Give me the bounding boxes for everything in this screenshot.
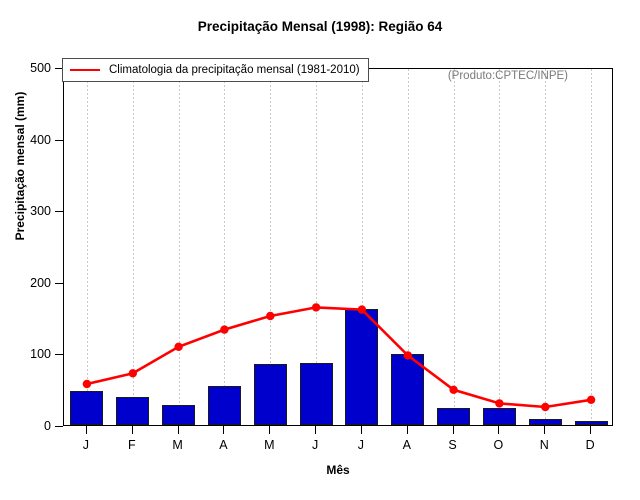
data-point-marker [541,403,549,411]
x-tick-mark [590,426,591,434]
x-tick-mark [178,426,179,434]
y-axis-label: Precipitação mensal (mm) [13,0,27,336]
x-axis-label: Mês [63,463,613,477]
data-point-marker [174,343,182,351]
x-tick-label: M [172,438,182,452]
y-axis: 0100200300400500 [0,68,63,426]
x-tick-label: M [264,438,274,452]
x-tick-label: O [494,438,504,452]
climatology-line-series [64,69,614,427]
x-tick-label: N [540,438,549,452]
x-tick-mark [407,426,408,434]
y-tick-label: 400 [30,133,51,147]
x-tick-label: A [219,438,227,452]
y-tick-label: 200 [30,276,51,290]
x-tick-label: J [312,438,318,452]
x-axis: JFMAMJJASOND [63,426,613,466]
y-tick-mark [55,354,63,355]
legend-entry-label: Climatologia da precipitação mensal (198… [109,64,360,76]
x-tick-label: S [448,438,456,452]
legend-line-swatch-icon [70,69,100,71]
x-tick-mark [269,426,270,434]
climatology-polyline [87,307,591,407]
data-point-marker [587,396,595,404]
x-tick-mark [315,426,316,434]
y-tick-label: 0 [44,419,51,433]
y-tick-label: 300 [30,204,51,218]
data-point-marker [220,325,228,333]
x-tick-label: A [403,438,411,452]
chart-title: Precipitação Mensal (1998): Região 64 [0,19,640,34]
y-tick-mark [55,283,63,284]
x-tick-mark [498,426,499,434]
x-tick-mark [361,426,362,434]
x-tick-label: F [128,438,136,452]
data-point-marker [495,399,503,407]
x-tick-mark [544,426,545,434]
chart-container: Precipitação Mensal (1998): Região 64 01… [0,0,640,500]
x-tick-label: J [358,438,364,452]
data-point-marker [404,351,412,359]
x-tick-label: D [586,438,595,452]
y-tick-mark [55,426,63,427]
x-tick-label: J [83,438,89,452]
x-tick-mark [86,426,87,434]
data-point-marker [83,380,91,388]
y-tick-mark [55,140,63,141]
y-tick-mark [55,211,63,212]
chart-legend: Climatologia da precipitação mensal (198… [62,58,369,82]
source-annotation: (Produto:CPTEC/INPE) [448,70,568,82]
plot-area [63,68,613,426]
x-tick-mark [453,426,454,434]
data-point-marker [266,312,274,320]
x-tick-mark [223,426,224,434]
y-tick-label: 100 [30,347,51,361]
x-tick-mark [132,426,133,434]
data-point-marker [449,386,457,394]
data-point-marker [358,305,366,313]
y-tick-label: 500 [30,61,51,75]
data-point-marker [129,369,137,377]
data-point-marker [312,303,320,311]
